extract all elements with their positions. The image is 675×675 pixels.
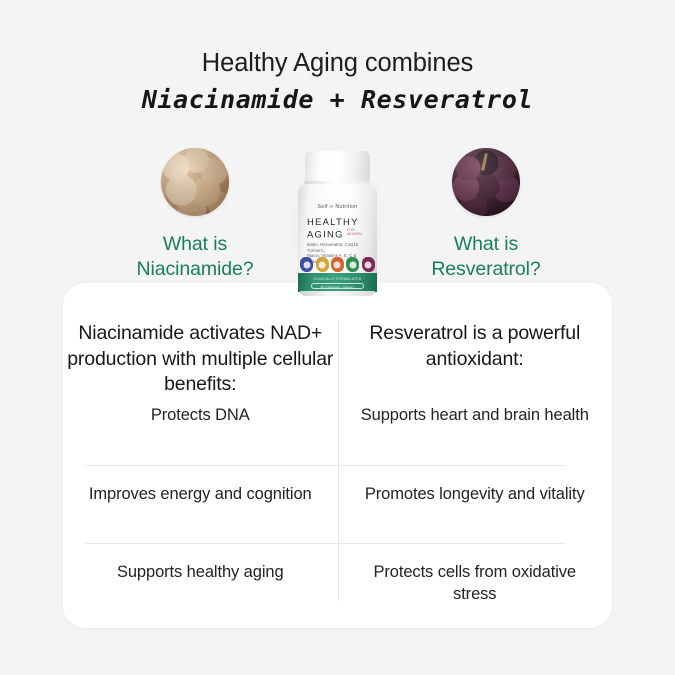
- benefit-item: Supports healthy aging: [77, 562, 324, 584]
- bottle-badge-line-2: WOMEN: [347, 232, 362, 236]
- grapes-photo: [452, 148, 520, 216]
- herb-icon: [346, 257, 359, 272]
- ingredient-label-line-1: What is: [401, 232, 571, 257]
- niacinamide-benefits-column: Niacinamide activates NAD+ production wi…: [63, 283, 338, 628]
- ingredient-label-line-2: Niacinamide?: [110, 257, 280, 282]
- benefit-item: Improves energy and cognition: [77, 484, 324, 506]
- bottle-title-word: AGING: [307, 228, 344, 239]
- grape-icon: [362, 257, 375, 272]
- benefits-card: Niacinamide activates NAD+ production wi…: [63, 283, 612, 628]
- bottle-title-line-2: AGINGFORWOMEN: [307, 228, 362, 240]
- ingredient-label-line-1: What is: [110, 232, 280, 257]
- grape-stem-icon: [481, 153, 488, 171]
- infographic-page: Healthy Aging combines Niacinamide + Res…: [0, 0, 675, 675]
- bottle-ingredient-icons: [299, 254, 376, 274]
- bottle-green-band: CLINICALLY FORMULATED 60 Capsules • Diet…: [298, 273, 377, 292]
- ingredient-niacinamide[interactable]: What is Niacinamide?: [110, 148, 280, 282]
- beans-photo: [161, 148, 229, 216]
- bottle-band-pill: 60 Capsules • Dietary Supplement: [311, 283, 364, 289]
- title-line-1: Healthy Aging combines: [0, 46, 675, 80]
- citrus-icon: [316, 257, 329, 272]
- berry-icon: [300, 257, 313, 272]
- ingredient-resveratrol[interactable]: What is Resveratrol?: [401, 148, 571, 282]
- bottle-brand-left: Self: [318, 204, 328, 210]
- ingredient-label-line-2: Resveratrol?: [401, 257, 571, 282]
- product-bottle-image: Self ∞ Nutrition HEALTHY AGINGFORWOMEN B…: [296, 151, 379, 295]
- benefit-item: Protects cells from oxidative stress: [352, 562, 599, 605]
- column-header-niacinamide: Niacinamide activates NAD+ production wi…: [63, 321, 338, 398]
- ingredient-label-niacinamide[interactable]: What is Niacinamide?: [110, 232, 280, 282]
- bottle-badge: FORWOMEN: [347, 228, 362, 237]
- resveratrol-benefits-column: Resveratrol is a powerful antioxidant: S…: [338, 283, 613, 628]
- title-line-2: Niacinamide + Resveratrol: [0, 82, 675, 118]
- benefit-item: Protects DNA: [77, 405, 324, 427]
- bottle-title-line-1: HEALTHY: [307, 217, 362, 228]
- benefit-item: Promotes longevity and vitality: [352, 484, 599, 506]
- bottle-brand-right: Nutrition: [335, 204, 357, 210]
- page-title: Healthy Aging combines Niacinamide + Res…: [0, 46, 675, 118]
- bottle-brand: Self ∞ Nutrition: [296, 204, 379, 210]
- bottle-band-text: CLINICALLY FORMULATED: [298, 277, 377, 281]
- benefit-item: Supports heart and brain health: [352, 405, 599, 427]
- bottle-cap: [305, 151, 370, 182]
- bottle-base: [300, 291, 375, 296]
- bottle-badge-line-1: FOR: [347, 228, 355, 232]
- ingredient-label-resveratrol[interactable]: What is Resveratrol?: [401, 232, 571, 282]
- bottle-ingredients-line-1: Biotin, Resveratrol, CoQ10, Turmeric,: [307, 242, 367, 253]
- turmeric-icon: [331, 257, 344, 272]
- column-header-resveratrol: Resveratrol is a powerful antioxidant:: [338, 321, 613, 372]
- bottle-title: HEALTHY AGINGFORWOMEN: [307, 217, 362, 240]
- infinity-icon: ∞: [329, 204, 333, 210]
